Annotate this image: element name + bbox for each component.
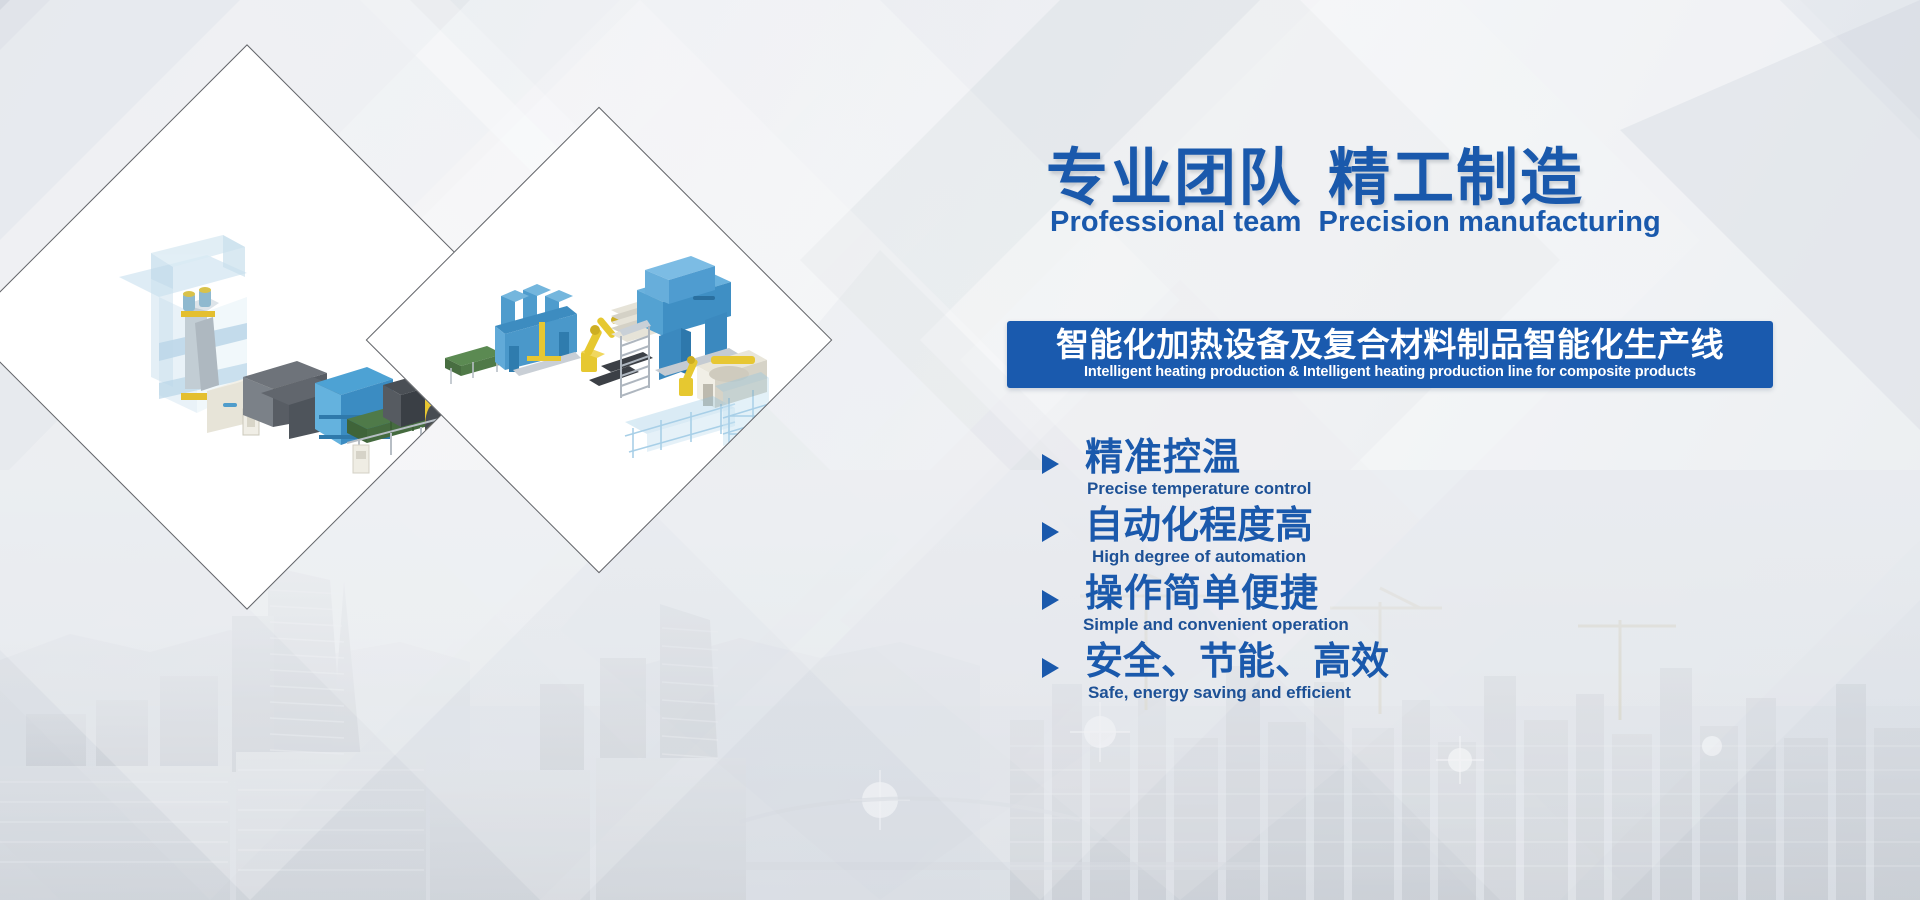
- triangle-bullet-icon: [1042, 658, 1059, 678]
- feature-item-2: 自动化程度高 High degree of automation: [1040, 504, 1680, 572]
- feature-3-english: Simple and convenient operation: [1083, 616, 1349, 633]
- feature-2-chinese: 自动化程度高: [1085, 506, 1313, 547]
- triangle-bullet-icon: [1042, 454, 1059, 474]
- feature-2-english: High degree of automation: [1092, 548, 1306, 565]
- headline-part-1: 专业团队: [1046, 144, 1302, 213]
- feature-item-3: 操作简单便捷 Simple and convenient operation: [1040, 572, 1680, 640]
- triangle-bullet-icon: [1042, 590, 1059, 610]
- feature-1-english: Precise temperature control: [1087, 480, 1311, 497]
- product-title-english: Intelligent heating production & Intelli…: [1084, 364, 1696, 381]
- feature-4-chinese: 安全、节能、高效: [1085, 642, 1389, 683]
- product-title-box: 智能化加热设备及复合材料制品智能化生产线 Intelligent heating…: [1007, 321, 1773, 388]
- feature-4-english: Safe, energy saving and efficient: [1088, 684, 1351, 701]
- headline-subtitle: Professional teamPrecision manufacturing: [1050, 208, 1661, 237]
- promotional-banner: 专业团队精工制造 Professional teamPrecision manu…: [0, 0, 1920, 900]
- feature-1-chinese: 精准控温: [1085, 438, 1241, 479]
- feature-list: 精准控温 Precise temperature control 自动化程度高 …: [1040, 436, 1680, 708]
- banner-text-column: 专业团队精工制造 Professional teamPrecision manu…: [0, 0, 1920, 900]
- subtitle-part-2: Precision manufacturing: [1319, 206, 1661, 238]
- feature-item-4: 安全、节能、高效 Safe, energy saving and efficie…: [1040, 640, 1680, 708]
- feature-item-1: 精准控温 Precise temperature control: [1040, 436, 1680, 504]
- product-title-chinese: 智能化加热设备及复合材料制品智能化生产线: [1056, 328, 1724, 362]
- feature-3-chinese: 操作简单便捷: [1085, 574, 1319, 615]
- subtitle-part-1: Professional team: [1050, 206, 1302, 238]
- headline-part-2: 精工制造: [1328, 144, 1584, 213]
- headline: 专业团队精工制造: [1046, 148, 1584, 210]
- triangle-bullet-icon: [1042, 522, 1059, 542]
